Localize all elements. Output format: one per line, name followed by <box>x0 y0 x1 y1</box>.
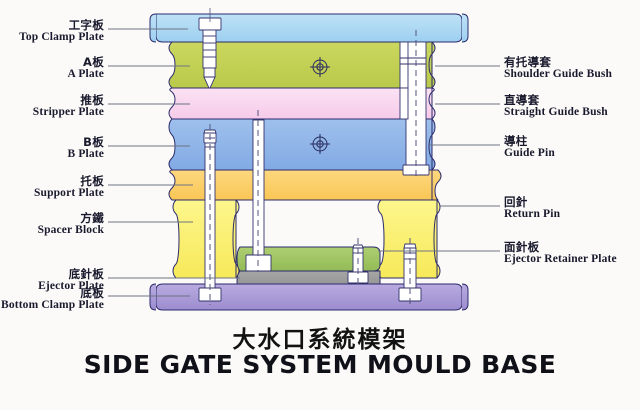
label-a-plate-en: A Plate <box>0 69 104 81</box>
label-b-plate-en: B Plate <box>0 149 104 161</box>
page-title-en: SIDE GATE SYSTEM MOULD BASE <box>0 350 640 379</box>
page-title-cn: 大水口系統模架 <box>0 320 640 354</box>
label-return-pin: 回針 Return Pin <box>504 197 560 221</box>
label-stripper-plate: 推板 Stripper Plate <box>0 95 104 119</box>
label-shoulder-guide-bush: 有托導套 Shoulder Guide Bush <box>504 57 612 81</box>
straight-guide-bush <box>400 88 408 119</box>
label-bottom-clamp-plate-en: Bottom Clamp Plate <box>0 300 104 312</box>
label-stripper-plate-en: Stripper Plate <box>0 107 104 119</box>
label-straight-guide-bush: 直導套 Straight Guide Bush <box>504 95 608 119</box>
label-top-clamp-plate: 工字板 Top Clamp Plate <box>0 20 104 44</box>
label-guide-pin: 導柱 Guide Pin <box>504 136 555 160</box>
label-straight-guide-bush-en: Straight Guide Bush <box>504 107 608 119</box>
label-ejector-retainer-plate: 面針板 Ejector Retainer Plate <box>504 242 617 266</box>
label-spacer-block-en: Spacer Block <box>0 225 104 237</box>
spacer-block-left-body <box>173 200 236 278</box>
label-support-plate-en: Support Plate <box>0 188 104 200</box>
label-shoulder-guide-bush-en: Shoulder Guide Bush <box>504 69 612 81</box>
label-b-plate: B板 B Plate <box>0 137 104 161</box>
stripper-plate-body <box>169 88 412 119</box>
label-top-clamp-plate-en: Top Clamp Plate <box>0 32 104 44</box>
label-a-plate: A板 A Plate <box>0 57 104 81</box>
label-bottom-clamp-plate: 底板 Bottom Clamp Plate <box>0 288 104 312</box>
diagram-page: 工字板 Top Clamp Plate A板 A Plate 推板 Stripp… <box>0 0 640 410</box>
label-spacer-block: 方鐵 Spacer Block <box>0 213 104 237</box>
label-ejector-retainer-plate-en: Ejector Retainer Plate <box>504 254 617 266</box>
label-support-plate: 托板 Support Plate <box>0 176 104 200</box>
label-guide-pin-en: Guide Pin <box>504 148 555 160</box>
label-return-pin-en: Return Pin <box>504 209 560 221</box>
